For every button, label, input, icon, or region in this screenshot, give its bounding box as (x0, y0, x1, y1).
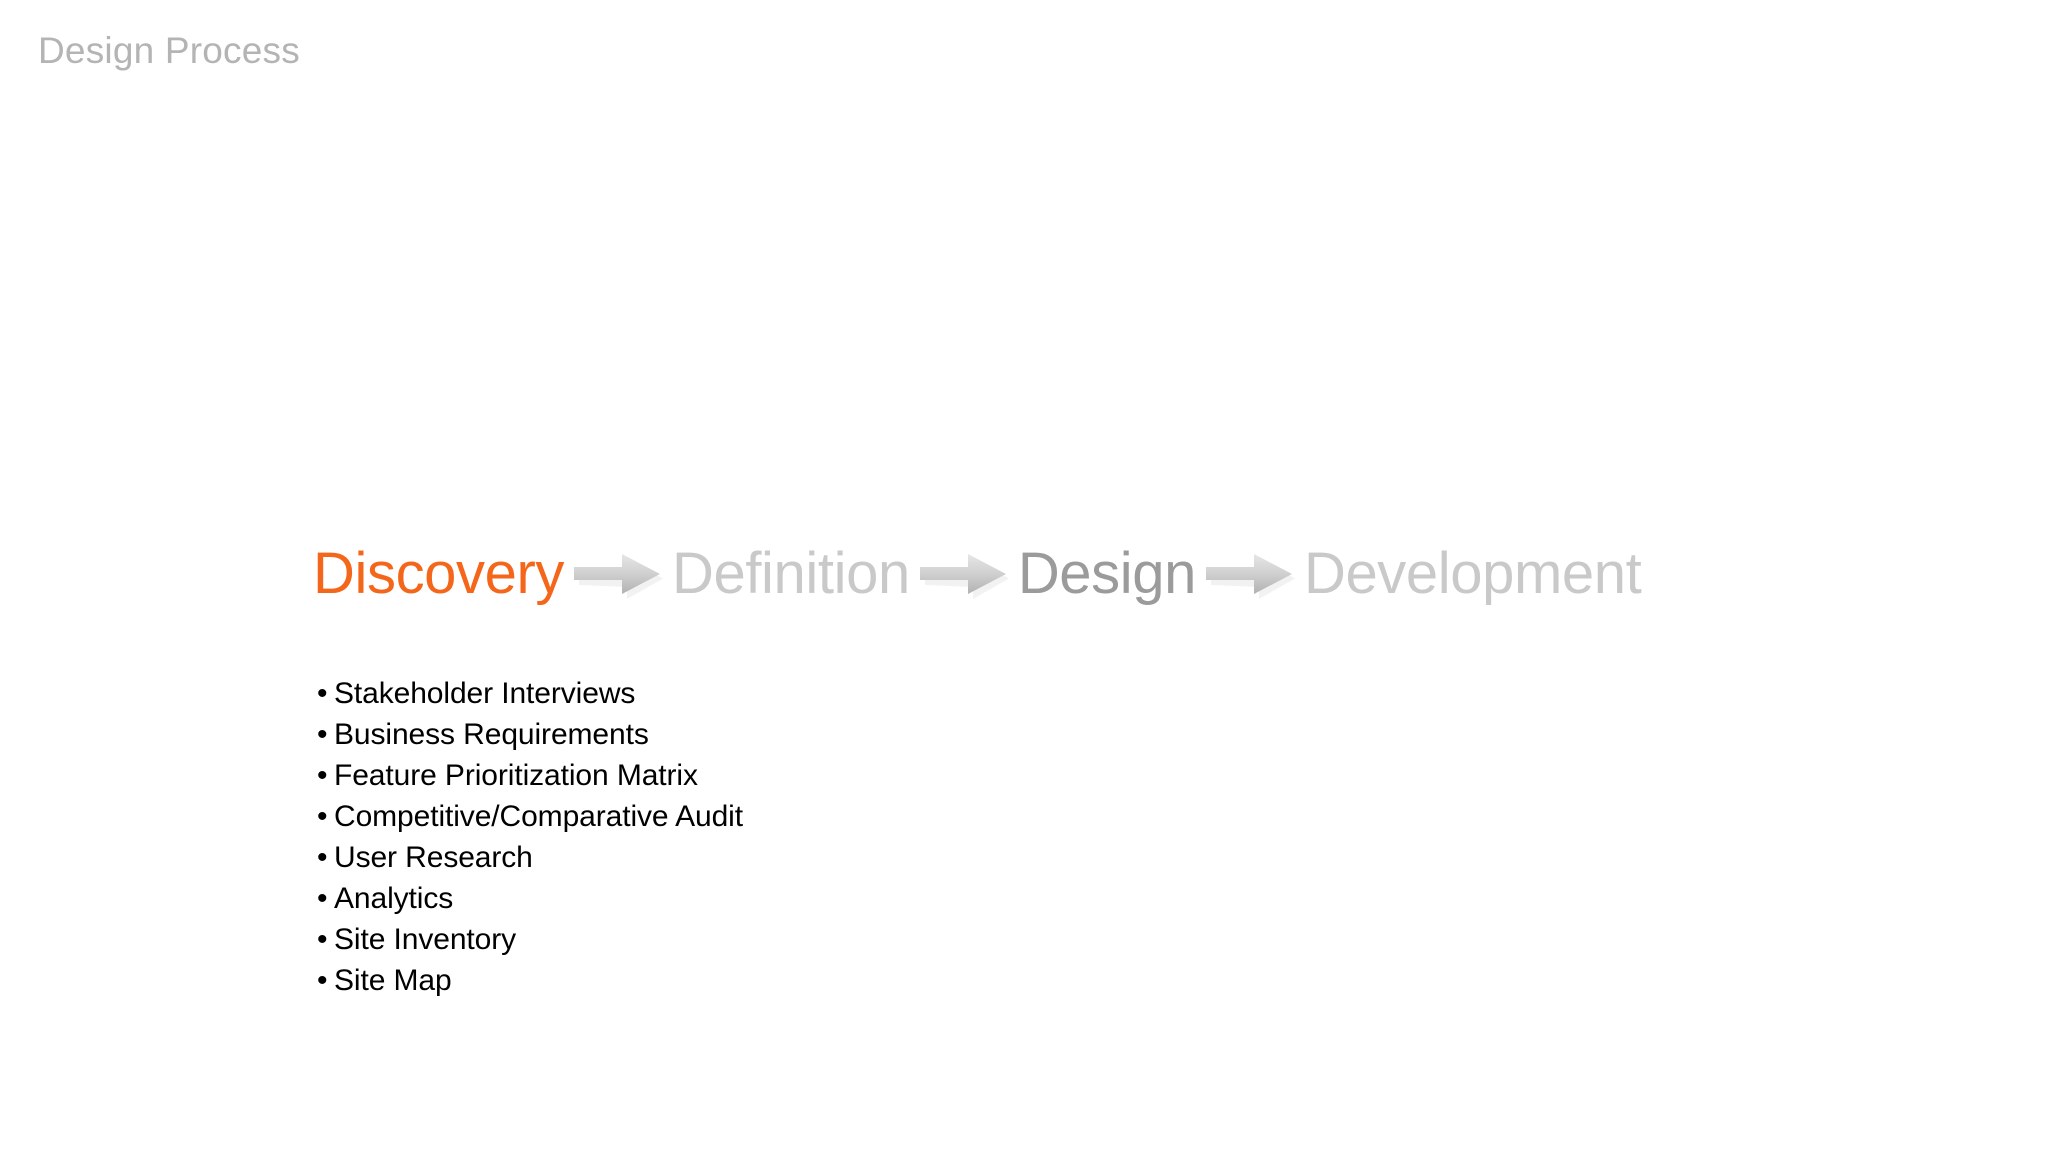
list-item-label: Business Requirements (334, 718, 649, 751)
process-phase-discovery[interactable]: Discovery (313, 545, 564, 607)
list-item: •Site Map (317, 960, 743, 1001)
bullet-icon: • (317, 796, 334, 837)
bullet-icon: • (317, 919, 334, 960)
list-item: •Site Inventory (317, 919, 743, 960)
bullet-icon: • (317, 837, 334, 878)
list-item: •Feature Prioritization Matrix (317, 755, 743, 796)
process-phase-definition[interactable]: Definition (672, 545, 910, 607)
list-item-label: User Research (334, 841, 533, 874)
bullet-icon: • (317, 960, 334, 1001)
process-phase-development[interactable]: Development (1304, 545, 1641, 607)
list-item: •Competitive/Comparative Audit (317, 796, 743, 837)
right-block-arrow-icon (1204, 548, 1296, 604)
list-item-label: Stakeholder Interviews (334, 677, 635, 710)
bullet-icon: • (317, 673, 334, 714)
bullet-icon: • (317, 714, 334, 755)
list-item-label: Analytics (334, 882, 453, 915)
bullet-icon: • (317, 755, 334, 796)
list-item-label: Competitive/Comparative Audit (334, 800, 743, 833)
list-item-label: Site Map (334, 964, 452, 997)
slide-canvas: Design Process Discovery Definition (0, 0, 2048, 1152)
discovery-deliverables-list: •Stakeholder Interviews •Business Requir… (317, 673, 743, 1001)
process-phase-design[interactable]: Design (1018, 545, 1196, 607)
list-item: •Business Requirements (317, 714, 743, 755)
bullet-icon: • (317, 878, 334, 919)
list-item: •User Research (317, 837, 743, 878)
right-block-arrow-icon (918, 548, 1010, 604)
list-item: •Stakeholder Interviews (317, 673, 743, 714)
page-title: Design Process (38, 28, 300, 74)
list-item-label: Site Inventory (334, 923, 516, 956)
right-block-arrow-icon (572, 548, 664, 604)
list-item-label: Feature Prioritization Matrix (334, 759, 698, 792)
design-process-flow: Discovery Definition (313, 536, 1641, 616)
list-item: •Analytics (317, 878, 743, 919)
